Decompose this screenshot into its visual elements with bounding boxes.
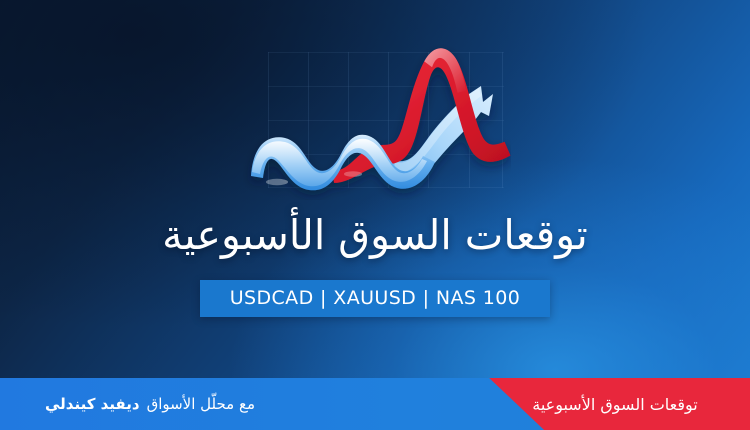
- presenter-lead-label: مع محلّل الأسواق: [147, 395, 255, 413]
- program-label: توقعات السوق الأسبوعية: [532, 395, 698, 414]
- footer-bar: مع محلّل الأسواق ديفيد كيندلي توقعات الس…: [0, 378, 750, 430]
- presenter-credit: مع محلّل الأسواق ديفيد كيندلي: [0, 378, 300, 430]
- market-chart-3d-illustration: [243, 42, 511, 200]
- instrument-badge-wrapper: USDCAD | XAUUSD | NAS 100: [0, 280, 750, 317]
- weekly-market-forecast-poster: توقعات السوق الأسبوعية USDCAD | XAUUSD |…: [0, 0, 750, 430]
- presenter-name: ديفيد كيندلي: [45, 395, 140, 413]
- page-title: توقعات السوق الأسبوعية: [0, 211, 750, 259]
- program-label-wrapper: توقعات السوق الأسبوعية: [480, 378, 750, 430]
- instruments-badge: USDCAD | XAUUSD | NAS 100: [200, 280, 551, 317]
